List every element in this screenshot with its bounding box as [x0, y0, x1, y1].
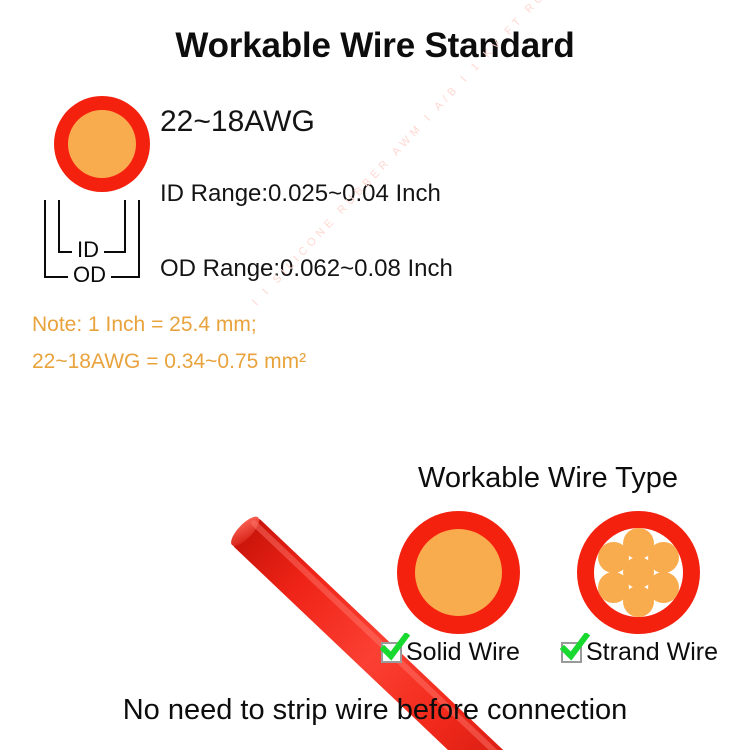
od-range-text: OD Range:0.062~0.08 Inch — [160, 255, 453, 283]
strand-shape-lower-right — [648, 572, 679, 603]
footer-note: No need to strip wire before connection — [0, 694, 750, 727]
id-label: ID — [72, 239, 104, 261]
checkmark-icon — [380, 633, 410, 663]
checkmark-icon — [560, 633, 590, 663]
solid-wire-label: Solid Wire — [406, 638, 520, 667]
strand-wire-option[interactable]: Strand Wire — [561, 638, 718, 667]
strand-shape-upper-right — [648, 542, 679, 573]
strand-shape-upper-left — [598, 542, 629, 573]
solid-wire-option[interactable]: Solid Wire — [381, 638, 520, 667]
conductor-core-shape — [68, 110, 136, 178]
od-extension-line-right — [138, 200, 140, 278]
page-title: Workable Wire Standard — [0, 26, 750, 66]
strand-shape-lower-left — [598, 572, 629, 603]
id-extension-line-left — [58, 200, 60, 253]
wire-standard-infographic: Workable Wire Standard OD ID 22~18AWG ID… — [0, 0, 750, 750]
od-extension-line-left — [44, 200, 46, 278]
strand-wire-label: Strand Wire — [586, 638, 718, 667]
note-line-2: 22~18AWG = 0.34~0.75 mm² — [32, 350, 306, 374]
awg-spec-text: 22~18AWG — [160, 105, 315, 139]
id-extension-line-right — [124, 200, 126, 253]
id-range-text: ID Range:0.025~0.04 Inch — [160, 180, 441, 208]
wire-type-heading: Workable Wire Type — [418, 462, 678, 495]
solid-wire-checkbox[interactable] — [381, 642, 402, 663]
strand-wire-checkbox[interactable] — [561, 642, 582, 663]
od-label: OD — [68, 264, 111, 286]
cross-section-diagram: OD ID — [22, 88, 162, 293]
solid-wire-core-shape — [415, 529, 502, 616]
note-line-1: Note: 1 Inch = 25.4 mm; — [32, 313, 257, 337]
